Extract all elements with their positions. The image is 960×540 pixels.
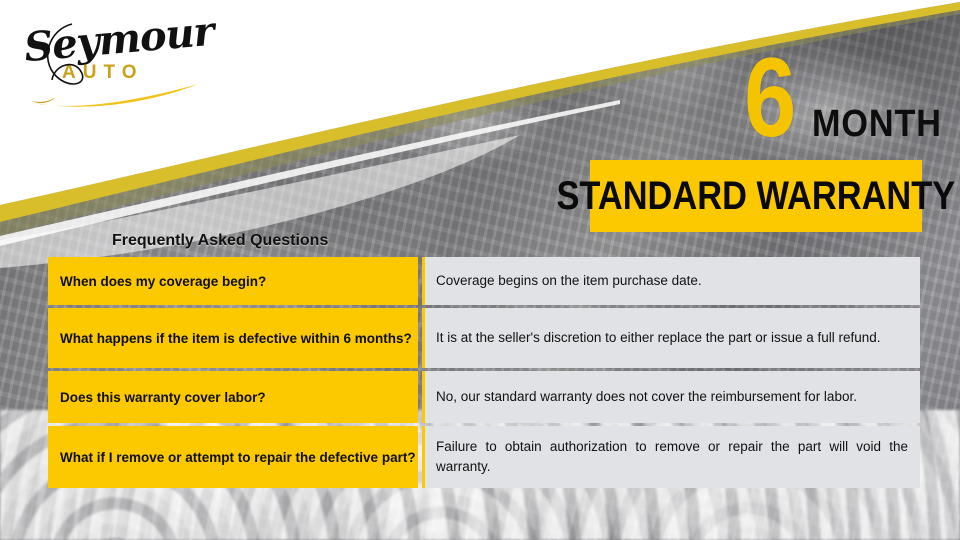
- faq-question-text: When does my coverage begin?: [60, 272, 266, 291]
- faq-question-text: What if I remove or attempt to repair th…: [60, 448, 416, 467]
- faq-question-text: What happens if the item is defective wi…: [60, 329, 412, 348]
- faq-answer-cell: Failure to obtain authorization to remov…: [422, 426, 920, 488]
- faq-answer-cell: It is at the seller's discretion to eith…: [422, 308, 920, 368]
- seymour-auto-logo[interactable]: Seymour AUTO: [18, 14, 198, 106]
- table-row: Does this warranty cover labor? No, our …: [48, 371, 920, 423]
- faq-question-cell: Does this warranty cover labor?: [48, 371, 418, 423]
- faq-answer-cell: Coverage begins on the item purchase dat…: [422, 257, 920, 305]
- standard-warranty-banner: STANDARD WARRANTY: [590, 160, 922, 232]
- logo-script-flourish-icon: [18, 14, 198, 106]
- duration-unit-label: MONTH: [812, 105, 942, 143]
- faq-question-cell: When does my coverage begin?: [48, 257, 418, 305]
- faq-answer-text: It is at the seller's discretion to eith…: [436, 328, 908, 348]
- standard-warranty-title: STANDARD WARRANTY: [557, 176, 956, 216]
- duration-number: 6: [744, 42, 796, 154]
- faq-question-text: Does this warranty cover labor?: [60, 388, 266, 407]
- faq-answer-text: Coverage begins on the item purchase dat…: [436, 271, 908, 291]
- faq-question-cell: What if I remove or attempt to repair th…: [48, 426, 418, 488]
- table-row: When does my coverage begin? Coverage be…: [48, 257, 920, 305]
- faq-answer-text: Failure to obtain authorization to remov…: [436, 437, 908, 477]
- faq-question-cell: What happens if the item is defective wi…: [48, 308, 418, 368]
- faq-answer-cell: No, our standard warranty does not cover…: [422, 371, 920, 423]
- faq-answer-text: No, our standard warranty does not cover…: [436, 387, 908, 407]
- table-row: What happens if the item is defective wi…: [48, 308, 920, 368]
- warranty-slide: Seymour AUTO 6 MONTH STANDARD WARRANTY F…: [0, 0, 960, 540]
- faq-table: When does my coverage begin? Coverage be…: [48, 257, 920, 488]
- table-row: What if I remove or attempt to repair th…: [48, 426, 920, 488]
- faq-heading: Frequently Asked Questions: [112, 231, 328, 250]
